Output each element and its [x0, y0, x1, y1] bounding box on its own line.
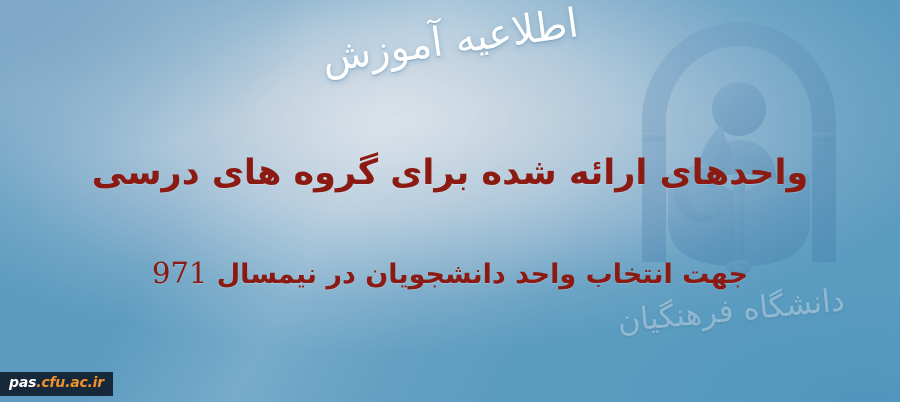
- site-url-prefix: pas: [9, 375, 36, 391]
- background-sheen-overlay: [0, 0, 900, 402]
- site-url-badge[interactable]: pas.cfu.ac.ir: [0, 372, 113, 396]
- site-url-domain: .cfu.ac.ir: [36, 375, 104, 391]
- announcement-banner: دانشگاه فرهنگیان اطلاعیه آموزش واحدهای ا…: [0, 0, 900, 402]
